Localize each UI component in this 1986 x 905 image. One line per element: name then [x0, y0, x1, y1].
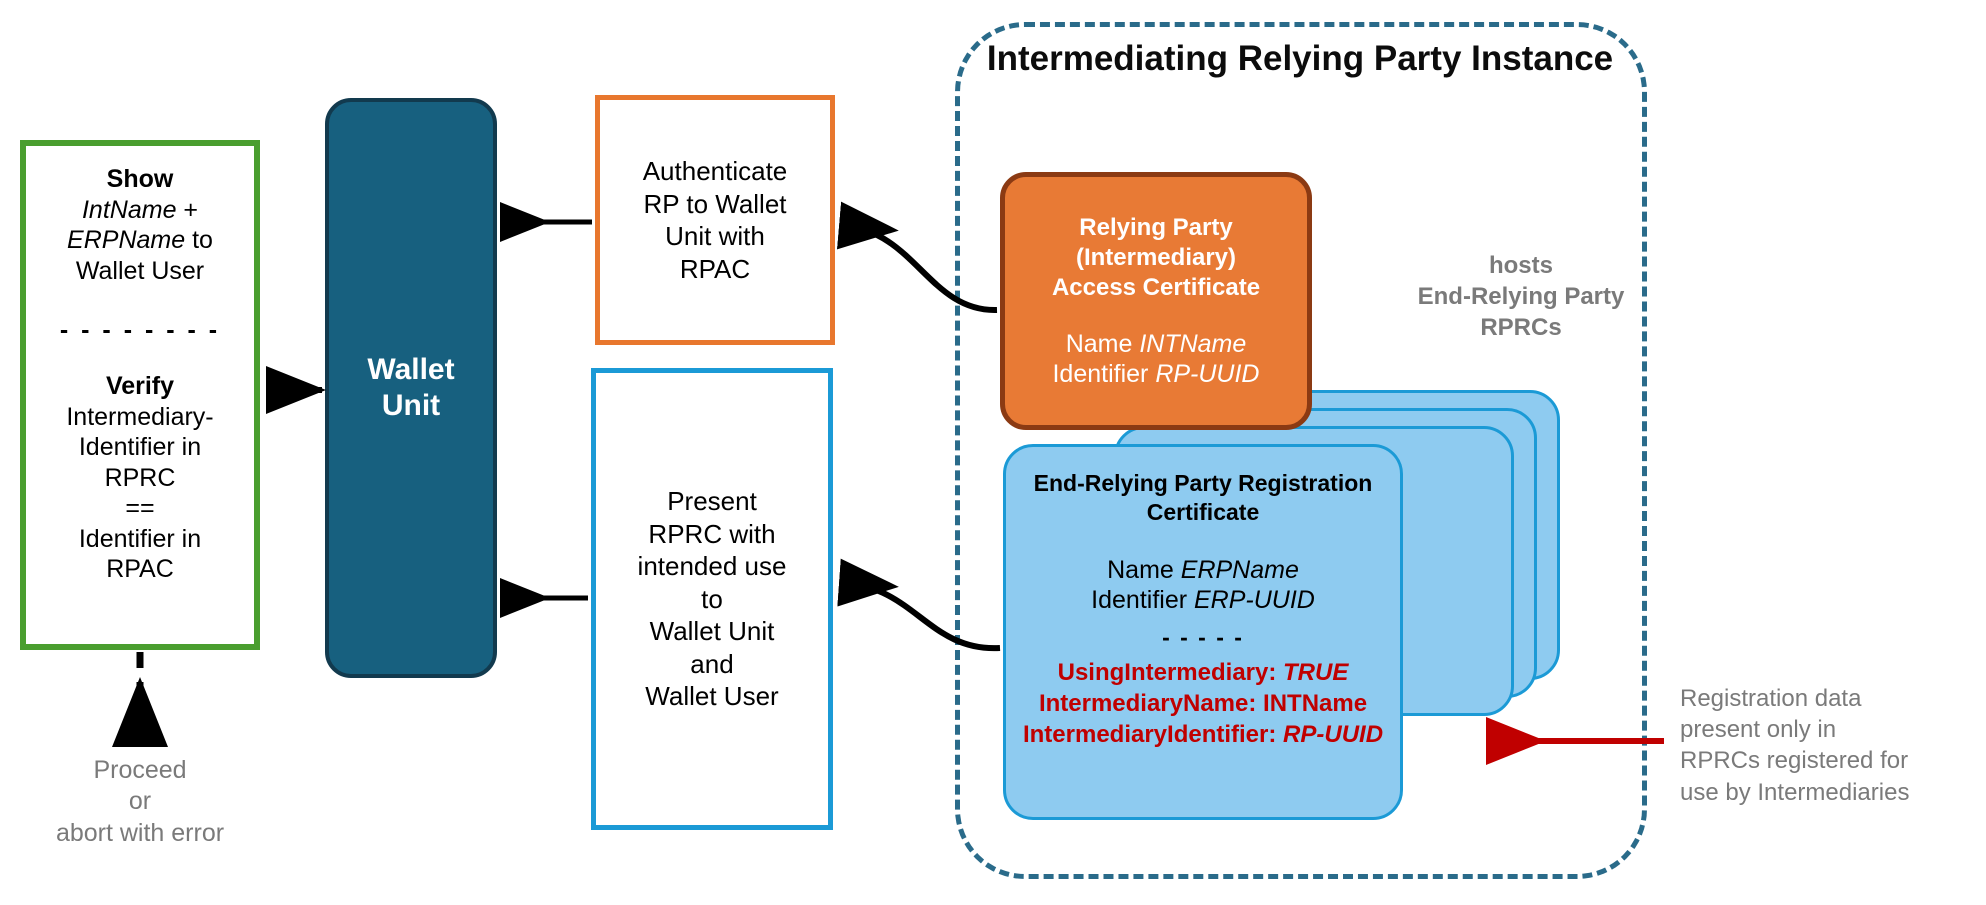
rprc-identifier-value: ERP-UUID	[1194, 586, 1315, 614]
authenticate-line-3: Unit with	[643, 220, 788, 253]
irp-title-text: Intermediating Relying Party Instance	[987, 39, 1613, 78]
show-line-2: ERPName to	[67, 225, 213, 256]
hosts-line-1: hosts	[1376, 250, 1666, 281]
rprc-intermediary-name-row: IntermediaryName: INTName	[1023, 688, 1383, 719]
show-line-1-plain: +	[176, 196, 198, 224]
proceed-line-3: abort with error	[20, 818, 260, 849]
rprc-separator: - - - - -	[1162, 624, 1244, 651]
present-line-3: intended use	[638, 550, 787, 583]
show-line-3: Wallet User	[76, 256, 204, 287]
present-line-4: to	[638, 583, 787, 616]
present-line-1: Present	[638, 485, 787, 518]
present-line-7: Wallet User	[638, 680, 787, 713]
rpac-head-line-3: Access Certificate	[1052, 273, 1260, 303]
rprc-name-label: Name	[1107, 556, 1181, 584]
authenticate-line-2: RP to Wallet	[643, 188, 788, 221]
rprc-name-row: Name ERPName	[1091, 555, 1315, 586]
rpac-identifier-value: RP-UUID	[1155, 360, 1259, 388]
green-box-separator: - - - - - - - -	[60, 316, 220, 345]
wallet-unit-label: Wallet Unit	[367, 352, 454, 424]
verify-line-2: Identifier in	[79, 432, 201, 463]
rpac-name-row: Name INTName	[1052, 329, 1259, 360]
rpac-identifier-label: Identifier	[1052, 360, 1155, 388]
rprc-identifier-label: Identifier	[1091, 586, 1194, 614]
show-label: Show	[107, 164, 174, 195]
page-title: Intermediating Relying Party Instance	[985, 38, 1615, 81]
rprc-identifier-row: Identifier ERP-UUID	[1091, 585, 1315, 616]
rprc-head-line-1: End-Relying Party Registration	[1034, 469, 1373, 498]
relying-party-access-certificate-card: Relying Party (Intermediary) Access Cert…	[1000, 172, 1312, 430]
end-relying-party-registration-certificate-card: End-Relying Party Registration Certifica…	[1003, 444, 1403, 820]
verify-line-6: RPAC	[106, 554, 174, 585]
rprc-head-line-2: Certificate	[1034, 498, 1373, 527]
registration-data-note: Registration data present only in RPRCs …	[1680, 683, 1980, 808]
diagram-canvas: Intermediating Relying Party Instance Sh…	[0, 0, 1986, 905]
rprc-using-intermediary-label: UsingIntermediary:	[1058, 659, 1283, 686]
hosts-line-3: RPRCs	[1376, 312, 1666, 343]
proceed-line-1: Proceed	[20, 755, 260, 786]
show-line-1: IntName +	[82, 195, 198, 226]
rprc-intermediary-name-label: IntermediaryName:	[1039, 690, 1263, 717]
rprc-intermediary-fields: UsingIntermediary: TRUE IntermediaryName…	[1023, 657, 1383, 751]
authenticate-rp-box: Authenticate RP to Wallet Unit with RPAC	[595, 95, 835, 345]
rprc-using-intermediary-value: TRUE	[1283, 659, 1348, 686]
rprc-intermediary-identifier-value: RP-UUID	[1283, 721, 1383, 748]
rprc-intermediary-identifier-row: IntermediaryIdentifier: RP-UUID	[1023, 719, 1383, 750]
authenticate-line-4: RPAC	[643, 253, 788, 286]
rpac-identifier-row: Identifier RP-UUID	[1052, 359, 1259, 390]
proceed-line-2: or	[20, 786, 260, 817]
hosts-line-2: End-Relying Party	[1376, 281, 1666, 312]
rpac-details: Name INTName Identifier RP-UUID	[1052, 329, 1259, 390]
wallet-unit-line-1: Wallet	[367, 352, 454, 388]
intname-token: IntName	[82, 196, 176, 224]
present-line-6: and	[638, 648, 787, 681]
present-line-5: Wallet Unit	[638, 615, 787, 648]
rprc-using-intermediary-row: UsingIntermediary: TRUE	[1023, 657, 1383, 688]
rpac-heading: Relying Party (Intermediary) Access Cert…	[1052, 213, 1260, 303]
hosts-label: hosts End-Relying Party RPRCs	[1376, 250, 1666, 344]
wallet-unit-line-2: Unit	[367, 388, 454, 424]
verify-line-4: ==	[125, 493, 154, 524]
verify-label: Verify	[106, 371, 174, 402]
show-line-2-plain: to	[185, 226, 213, 254]
rpac-name-label: Name	[1066, 330, 1140, 358]
erpname-token: ERPName	[67, 226, 185, 254]
authenticate-text: Authenticate RP to Wallet Unit with RPAC	[643, 155, 788, 285]
rprc-name-value: ERPName	[1181, 556, 1299, 584]
present-line-2: RPRC with	[638, 518, 787, 551]
wallet-unit-box: Wallet Unit	[325, 98, 497, 678]
rprc-intermediary-identifier-label: IntermediaryIdentifier:	[1023, 721, 1283, 748]
verify-line-1: Intermediary-	[66, 402, 213, 433]
reg-note-line-1: Registration data	[1680, 683, 1980, 714]
reg-note-line-2: present only in	[1680, 714, 1980, 745]
present-rprc-box: Present RPRC with intended use to Wallet…	[591, 368, 833, 830]
proceed-or-abort-note: Proceed or abort with error	[20, 755, 260, 849]
verify-line-3: RPRC	[105, 463, 176, 494]
rprc-details: Name ERPName Identifier ERP-UUID	[1091, 555, 1315, 616]
rpac-name-value: INTName	[1139, 330, 1246, 358]
verify-line-5: Identifier in	[79, 524, 201, 555]
reg-note-line-4: use by Intermediaries	[1680, 777, 1980, 808]
rpac-head-line-2: (Intermediary)	[1052, 243, 1260, 273]
reg-note-line-3: RPRCs registered for	[1680, 745, 1980, 776]
present-text: Present RPRC with intended use to Wallet…	[638, 485, 787, 713]
rprc-heading: End-Relying Party Registration Certifica…	[1034, 469, 1373, 527]
rpac-head-line-1: Relying Party	[1052, 213, 1260, 243]
show-verify-box: Show IntName + ERPName to Wallet User - …	[20, 140, 260, 650]
rprc-intermediary-name-value: INTName	[1263, 690, 1367, 717]
authenticate-line-1: Authenticate	[643, 155, 788, 188]
